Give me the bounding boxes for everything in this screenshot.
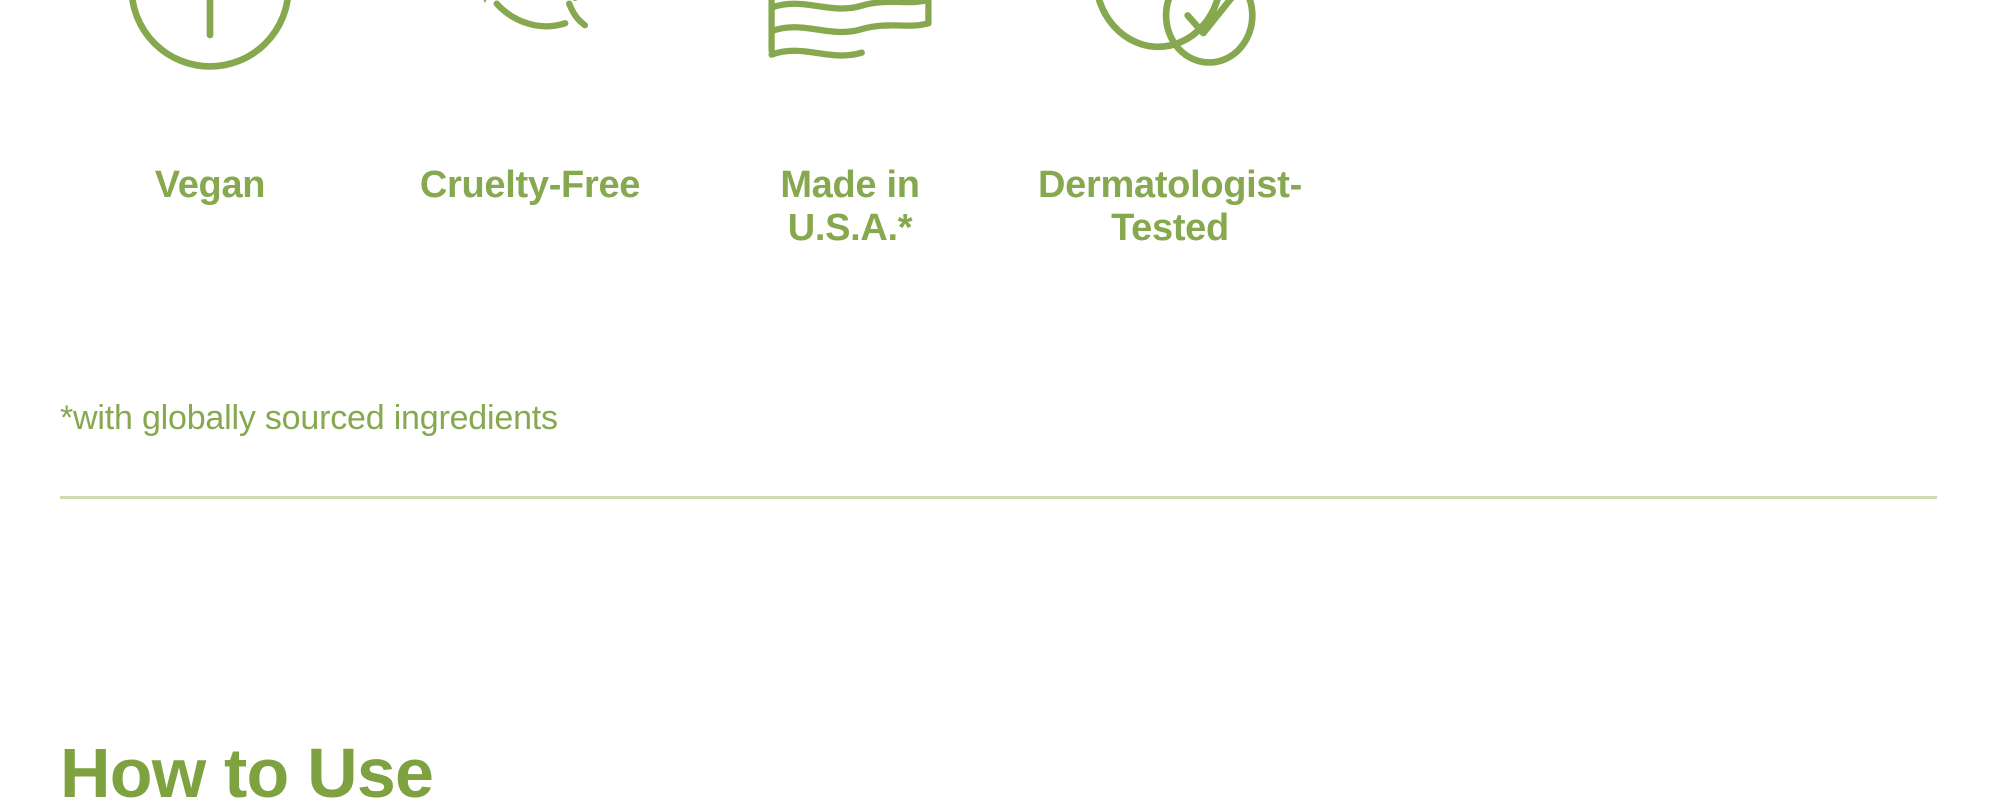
badge-label-dermatologist-tested: Dermatologist- Tested xyxy=(1038,164,1302,249)
sprout-in-circle-icon xyxy=(110,0,310,88)
leaping-bunny-sparkle-icon xyxy=(430,0,630,88)
skin-check-circle-icon xyxy=(1070,0,1270,88)
badge-cruelty-free: Cruelty-Free xyxy=(380,0,680,207)
badge-dermatologist-tested: Dermatologist- Tested xyxy=(1020,0,1320,249)
how-to-use-heading: How to Use xyxy=(60,736,433,812)
usa-flag-icon xyxy=(750,0,950,88)
badge-label-made-in-usa: Made in U.S.A.* xyxy=(780,164,919,249)
product-claims-section: Vegan Cruelty-Free xyxy=(0,0,2000,800)
section-divider xyxy=(60,496,1937,499)
badge-made-in-usa: Made in U.S.A.* xyxy=(700,0,1000,249)
badge-vegan: Vegan xyxy=(60,0,360,207)
footnote-text: *with globally sourced ingredients xyxy=(60,398,558,439)
badge-label-vegan: Vegan xyxy=(155,164,265,207)
claims-badge-row: Vegan Cruelty-Free xyxy=(60,0,1940,249)
badge-label-cruelty-free: Cruelty-Free xyxy=(420,164,640,207)
